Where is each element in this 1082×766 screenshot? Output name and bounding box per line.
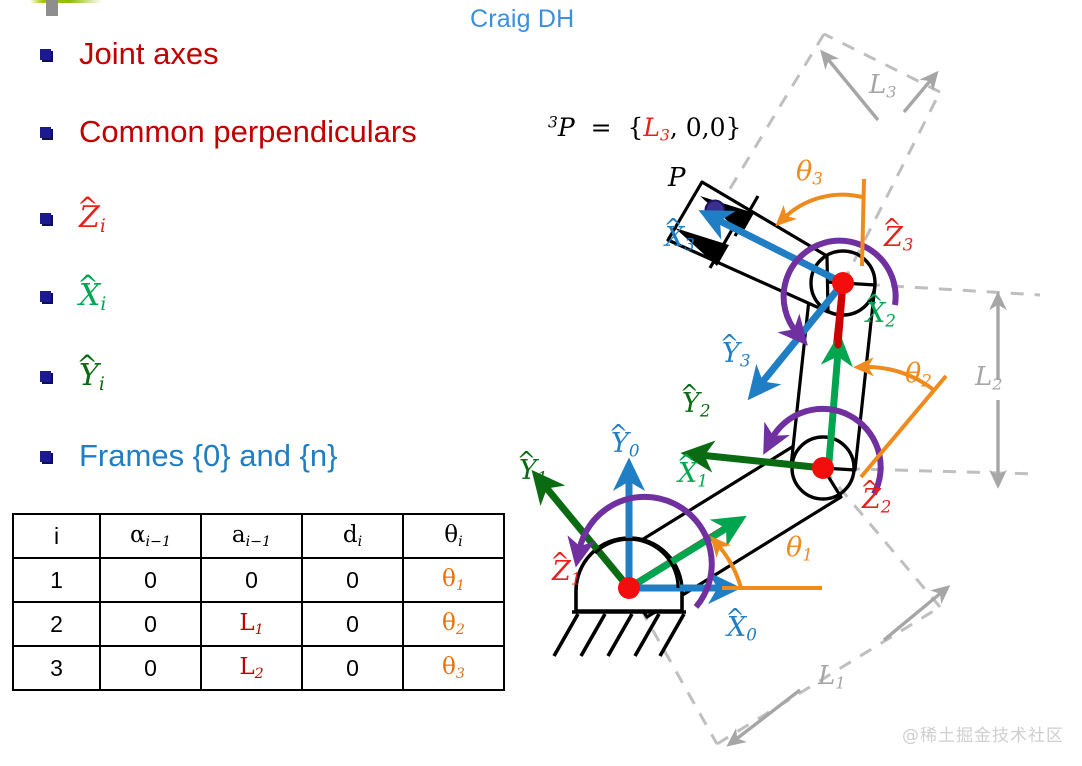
hatch-3	[608, 614, 632, 656]
slide-root: Craig DH Joint axes Common perpendicular…	[0, 0, 1082, 766]
theta3-reference-line	[862, 179, 864, 266]
label-y0: ^Y0	[611, 428, 639, 461]
label-theta1: θ1	[786, 532, 813, 565]
point-p-dot	[706, 201, 725, 220]
label-theta2: θ2	[905, 358, 932, 391]
ground-fixture	[554, 612, 686, 656]
label-z3: ^Z3	[884, 222, 913, 255]
hat-accent-icon: ^	[676, 451, 695, 477]
label-l2: L2	[975, 362, 1003, 394]
watermark: @稀土掘金技术社区	[902, 721, 1064, 746]
label-l3: L3	[869, 70, 897, 102]
hat-accent-icon: ^	[882, 215, 901, 241]
hat-accent-icon: ^	[663, 215, 682, 241]
hat-accent-icon: ^	[720, 331, 739, 357]
label-y3: ^Y3	[722, 338, 750, 371]
hat-accent-icon: ^	[609, 421, 628, 447]
label-x1: ^X1	[678, 458, 708, 491]
label-y2: ^Y2	[682, 388, 710, 421]
label-x2: ^X2	[866, 298, 896, 331]
label-z1: ^Z1	[552, 556, 581, 589]
hatch-1	[554, 614, 578, 656]
arrow-l1-down	[735, 690, 800, 740]
hatch-2	[581, 614, 605, 656]
theta3-arc	[784, 195, 862, 218]
label-l1: L1	[818, 661, 846, 693]
label-y1: ^Y1	[519, 455, 547, 488]
hat-accent-icon: ^	[725, 605, 744, 631]
hat-accent-icon: ^	[680, 381, 699, 407]
joint-1-dot	[618, 577, 640, 599]
label-x3: ^X3	[665, 222, 695, 255]
label-theta3: θ3	[796, 156, 823, 189]
hat-accent-icon: ^	[864, 291, 883, 317]
label-z2: ^Z2	[862, 484, 891, 517]
joint-2-dot	[812, 457, 834, 479]
hat-accent-icon: ^	[517, 448, 536, 474]
arrow-l1-up	[884, 592, 942, 640]
hat-accent-icon: ^	[860, 477, 879, 503]
label-x0: ^X0	[727, 612, 757, 645]
hatch-5	[660, 614, 684, 656]
joint-3-dot	[832, 272, 854, 294]
hat-accent-icon: ^	[550, 549, 569, 575]
